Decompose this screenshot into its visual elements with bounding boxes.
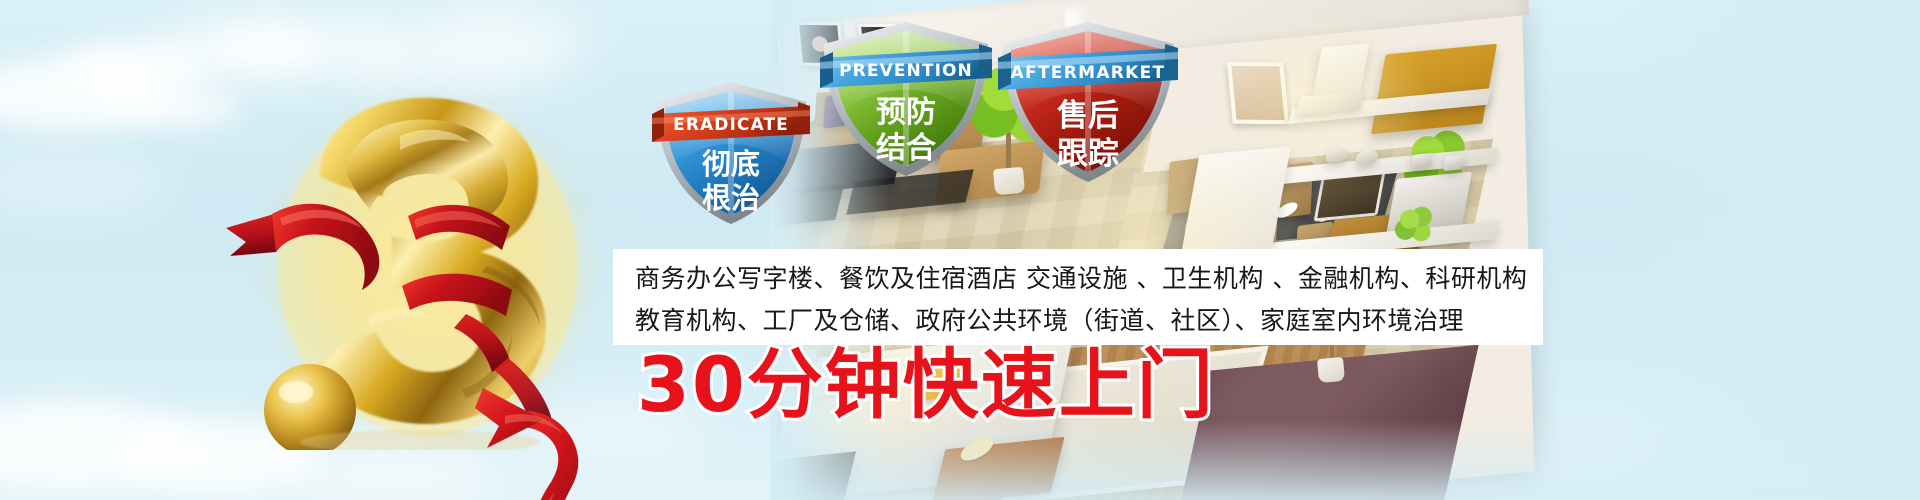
badge-prevention[interactable]: PREVENTION 预防 结合 xyxy=(818,18,994,180)
badge-aftermarket-cn2: 跟踪 xyxy=(1057,136,1119,172)
badge-prevention-cn2: 结合 xyxy=(876,131,936,166)
promo-banner: ERADICATE 彻底 根治 xyxy=(0,0,1920,500)
badge-eradicate-english: ERADICATE xyxy=(673,115,789,135)
badge-aftermarket-cn1: 售后 xyxy=(1057,98,1119,134)
service-scope-line-2: 教育机构、工厂及仓储、政府公共环境（街道、社区）、家庭室内环境治理 xyxy=(613,300,1543,342)
service-scope-line-1: 商务办公写字楼、餐饮及住宿酒店 交通设施 、卫生机构 、金融机构、科研机构 xyxy=(613,258,1543,300)
gold-numeral-three xyxy=(250,80,610,450)
badge-aftermarket[interactable]: AFTERMARKET 售后 跟踪 xyxy=(996,18,1180,186)
headline-30-minute-service: 30分钟快速上门 xyxy=(637,347,1215,423)
service-scope-panel: 商务办公写字楼、餐饮及住宿酒店 交通设施 、卫生机构 、金融机构、科研机构 教育… xyxy=(613,249,1543,345)
badge-eradicate[interactable]: ERADICATE 彻底 根治 xyxy=(650,78,812,228)
badge-eradicate-cn2: 根治 xyxy=(702,181,760,215)
badge-eradicate-cn1: 彻底 xyxy=(702,147,760,181)
badge-prevention-cn1: 预防 xyxy=(876,95,936,130)
badge-aftermarket-english: AFTERMARKET xyxy=(1011,63,1166,83)
badge-prevention-english: PREVENTION xyxy=(839,61,973,81)
